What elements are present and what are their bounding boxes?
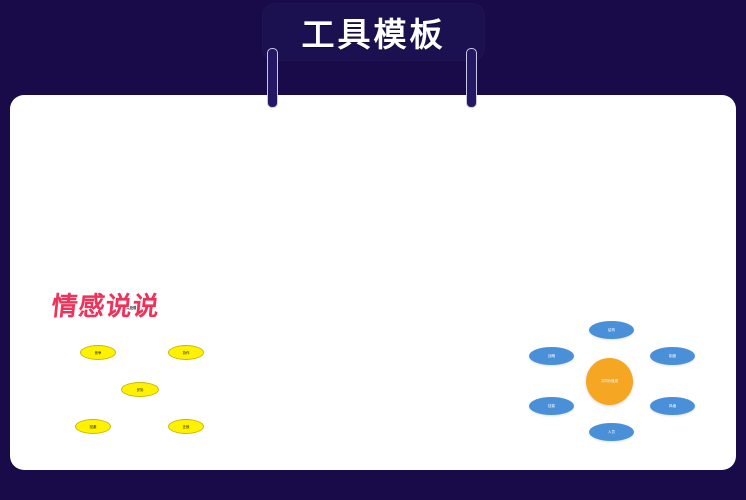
pin-left-icon	[267, 48, 278, 108]
s7-node-strategy[interactable]: 战略	[529, 347, 574, 365]
tki-label-avoid: 回避	[75, 419, 111, 434]
s7-node-structure[interactable]: 结构	[589, 321, 634, 339]
page-title-plate: 工具模板	[263, 4, 484, 60]
tki-label-compete: 竞争	[80, 345, 116, 360]
content-panel	[10, 95, 736, 470]
pin-right-icon	[466, 48, 477, 108]
s7-core-node[interactable]: 共同价值观	[586, 358, 633, 405]
page-title: 工具模板	[302, 8, 446, 56]
s7-node-skill[interactable]: 技能	[529, 397, 574, 415]
tki-label-compromise: 妥协	[121, 382, 159, 397]
tki-label-accommodate: 迁就	[168, 419, 204, 434]
s7-node-system[interactable]: 制度	[650, 347, 695, 365]
tki-title: 冲突处理·TK模型	[51, 305, 221, 310]
s7-node-style[interactable]: 风格	[650, 397, 695, 415]
tki-label-collaborate: 协作	[168, 345, 204, 360]
s7-node-staff[interactable]: 人员	[589, 423, 634, 441]
screenshot-root: 工具模板 团队重塑画布（TMC）— 提升团队执行力的系统思维 理念层 落地层 我…	[0, 0, 746, 500]
